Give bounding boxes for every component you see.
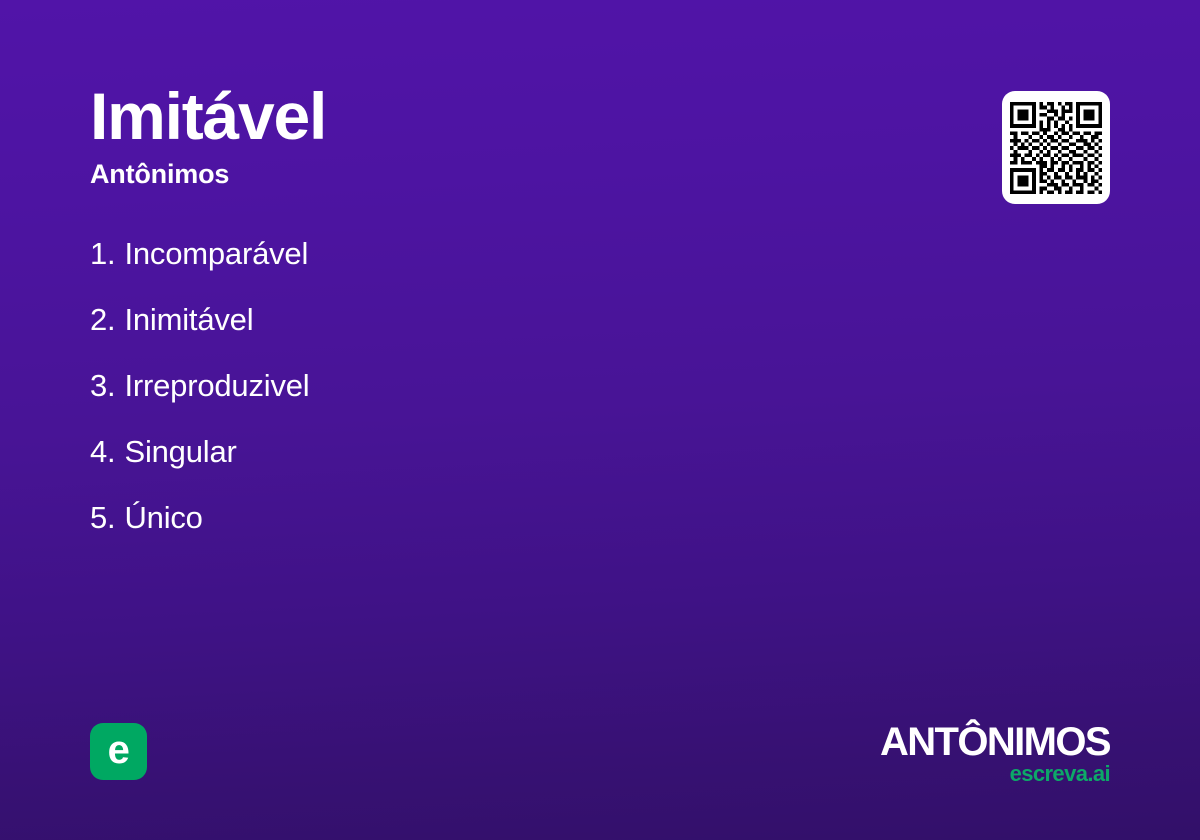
list-item-index: 1. <box>90 236 115 272</box>
list-item: 4.Singular <box>90 434 309 500</box>
brand-name: ANTÔNIMOS <box>880 722 1110 762</box>
list-item-label: Inimitável <box>124 302 253 338</box>
brand-domain: escreva.ai <box>880 763 1110 785</box>
list-item-label: Incomparável <box>124 236 308 272</box>
list-item-index: 3. <box>90 368 115 404</box>
qr-code-icon <box>1010 102 1102 194</box>
headline-block: Imitável Antônimos <box>90 82 326 190</box>
list-item: 3.Irreproduzivel <box>90 368 309 434</box>
list-item-label: Irreproduzivel <box>124 368 309 404</box>
list-item-index: 4. <box>90 434 115 470</box>
list-item-label: Único <box>124 500 202 536</box>
page-title: Imitável <box>90 82 326 152</box>
list-item: 2.Inimitável <box>90 302 309 368</box>
word-card: Imitável Antônimos 1.Incomparável2.Inimi… <box>0 0 1200 840</box>
list-item: 1.Incomparável <box>90 236 309 302</box>
app-icon-letter: e <box>108 730 130 770</box>
antonym-list: 1.Incomparável2.Inimitável3.Irreproduziv… <box>90 236 309 566</box>
list-item: 5.Único <box>90 500 309 566</box>
escreva-e-logo-icon[interactable]: e <box>90 723 147 780</box>
word-category-label: Antônimos <box>90 160 326 190</box>
brand-lockup: ANTÔNIMOS escreva.ai <box>880 722 1110 785</box>
list-item-index: 5. <box>90 500 115 536</box>
list-item-index: 2. <box>90 302 115 338</box>
qr-code-card[interactable] <box>1002 91 1110 204</box>
list-item-label: Singular <box>124 434 236 470</box>
